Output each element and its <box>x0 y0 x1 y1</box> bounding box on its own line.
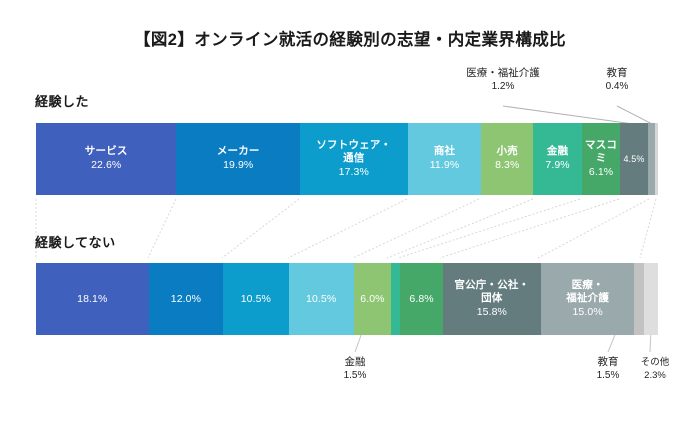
bar-segment[interactable]: 12.0% <box>149 263 224 335</box>
segment-value: 6.8% <box>409 292 433 306</box>
bar-segment[interactable]: 18.1% <box>36 263 149 335</box>
bar-segment[interactable] <box>634 263 643 335</box>
segment-value: 6.0% <box>360 292 384 306</box>
segment-label: 官公庁・公社・ 団体 <box>454 279 529 305</box>
segment-label: マスコミ <box>582 139 620 165</box>
segment-label: メーカー <box>217 145 260 158</box>
bar-segment[interactable]: メーカー19.9% <box>176 123 300 195</box>
segment-value: 19.9% <box>223 158 253 172</box>
segment-label: 小売 <box>497 145 518 158</box>
segment-value: 15.8% <box>477 305 507 319</box>
stacked-bar-not-experienced: 18.1%12.0%10.5%10.5%6.0%6.8%官公庁・公社・ 団体15… <box>36 263 658 335</box>
callout-finance-bottom: 金融 1.5% <box>320 355 390 383</box>
group-label-not-experienced: 経験してない <box>35 232 116 251</box>
segment-value: 10.5% <box>241 292 271 306</box>
segment-label: 商社 <box>434 145 455 158</box>
bar-segment[interactable]: 4.5% <box>620 123 648 195</box>
bar-segment[interactable]: 10.5% <box>289 263 354 335</box>
callout-other-bottom: その他 2.3% <box>622 357 688 383</box>
bar-segment[interactable]: 商社11.9% <box>408 123 482 195</box>
segment-label: サービス <box>85 145 128 158</box>
segment-value: 22.6% <box>91 158 121 172</box>
page-title: 【図2】オンライン就活の経験別の志望・内定業界構成比 <box>0 26 700 50</box>
callout-medical-welfare-top: 医療・福祉介護 1.2% <box>443 66 563 94</box>
segment-value: 7.9% <box>545 158 569 172</box>
bar-segment[interactable] <box>391 263 400 335</box>
segment-label: 医療・ 福祉介護 <box>566 279 609 305</box>
chart-container: 【図2】オンライン就活の経験別の志望・内定業界構成比 経験した サービス22.6… <box>0 0 700 421</box>
bar-segment[interactable]: 10.5% <box>223 263 288 335</box>
segment-value: 15.0% <box>572 305 602 319</box>
segment-label: 金融 <box>547 145 568 158</box>
bar-segment[interactable] <box>648 123 655 195</box>
segment-value: 11.9% <box>430 158 460 172</box>
segment-value: 18.1% <box>77 292 107 306</box>
stacked-bar-experienced: サービス22.6%メーカー19.9%ソフトウェア・ 通信17.3%商社11.9%… <box>36 123 658 195</box>
bar-segment[interactable]: ソフトウェア・ 通信17.3% <box>300 123 407 195</box>
segment-value: 4.5% <box>624 153 645 165</box>
bar-segment[interactable]: 小売8.3% <box>481 123 533 195</box>
bar-segment[interactable] <box>655 123 657 195</box>
bar-segment[interactable]: マスコミ6.1% <box>582 123 620 195</box>
bar-segment[interactable]: 6.8% <box>400 263 442 335</box>
segment-value: 6.1% <box>589 165 613 179</box>
bar-segment[interactable]: 6.0% <box>354 263 391 335</box>
bar-segment[interactable]: 金融7.9% <box>533 123 582 195</box>
group-label-experienced: 経験した <box>35 91 89 110</box>
segment-label: ソフトウェア・ 通信 <box>316 139 391 165</box>
segment-value: 10.5% <box>306 292 336 306</box>
segment-value: 12.0% <box>171 292 201 306</box>
bar-segment[interactable]: サービス22.6% <box>36 123 176 195</box>
bar-segment[interactable] <box>644 263 658 335</box>
bar-segment[interactable]: 医療・ 福祉介護15.0% <box>541 263 634 335</box>
segment-value: 8.3% <box>495 158 519 172</box>
bar-segment[interactable]: 官公庁・公社・ 団体15.8% <box>443 263 541 335</box>
callout-education-top: 教育 0.4% <box>580 66 654 94</box>
segment-value: 17.3% <box>339 165 369 179</box>
